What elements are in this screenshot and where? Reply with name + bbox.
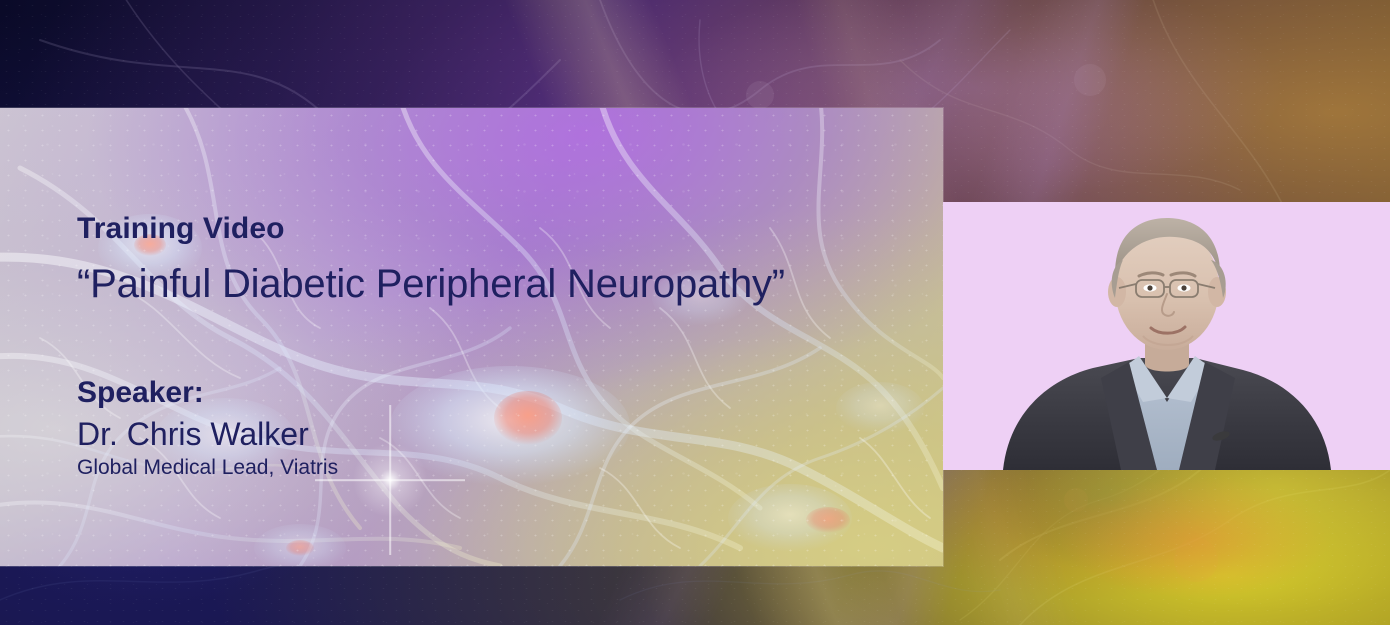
presentation-screen: Training Video “Painful Diabetic Periphe…	[0, 0, 1390, 625]
slide-title-block: Training Video “Painful Diabetic Periphe…	[77, 212, 897, 306]
speaker-role: Global Medical Lead, Viatris	[77, 456, 697, 480]
speaker-label: Speaker:	[77, 376, 697, 409]
speaker-video-panel[interactable]	[943, 202, 1390, 470]
speaker-name: Dr. Chris Walker	[77, 417, 697, 452]
slide-panel[interactable]: Training Video “Painful Diabetic Periphe…	[0, 108, 943, 566]
slide-kicker: Training Video	[77, 212, 897, 245]
page-title: “Painful Diabetic Peripheral Neuropathy”	[77, 263, 897, 306]
speaker-block: Speaker: Dr. Chris Walker Global Medical…	[77, 376, 697, 480]
slide-speckle-texture	[0, 108, 943, 566]
presenter-avatar	[943, 202, 1390, 470]
